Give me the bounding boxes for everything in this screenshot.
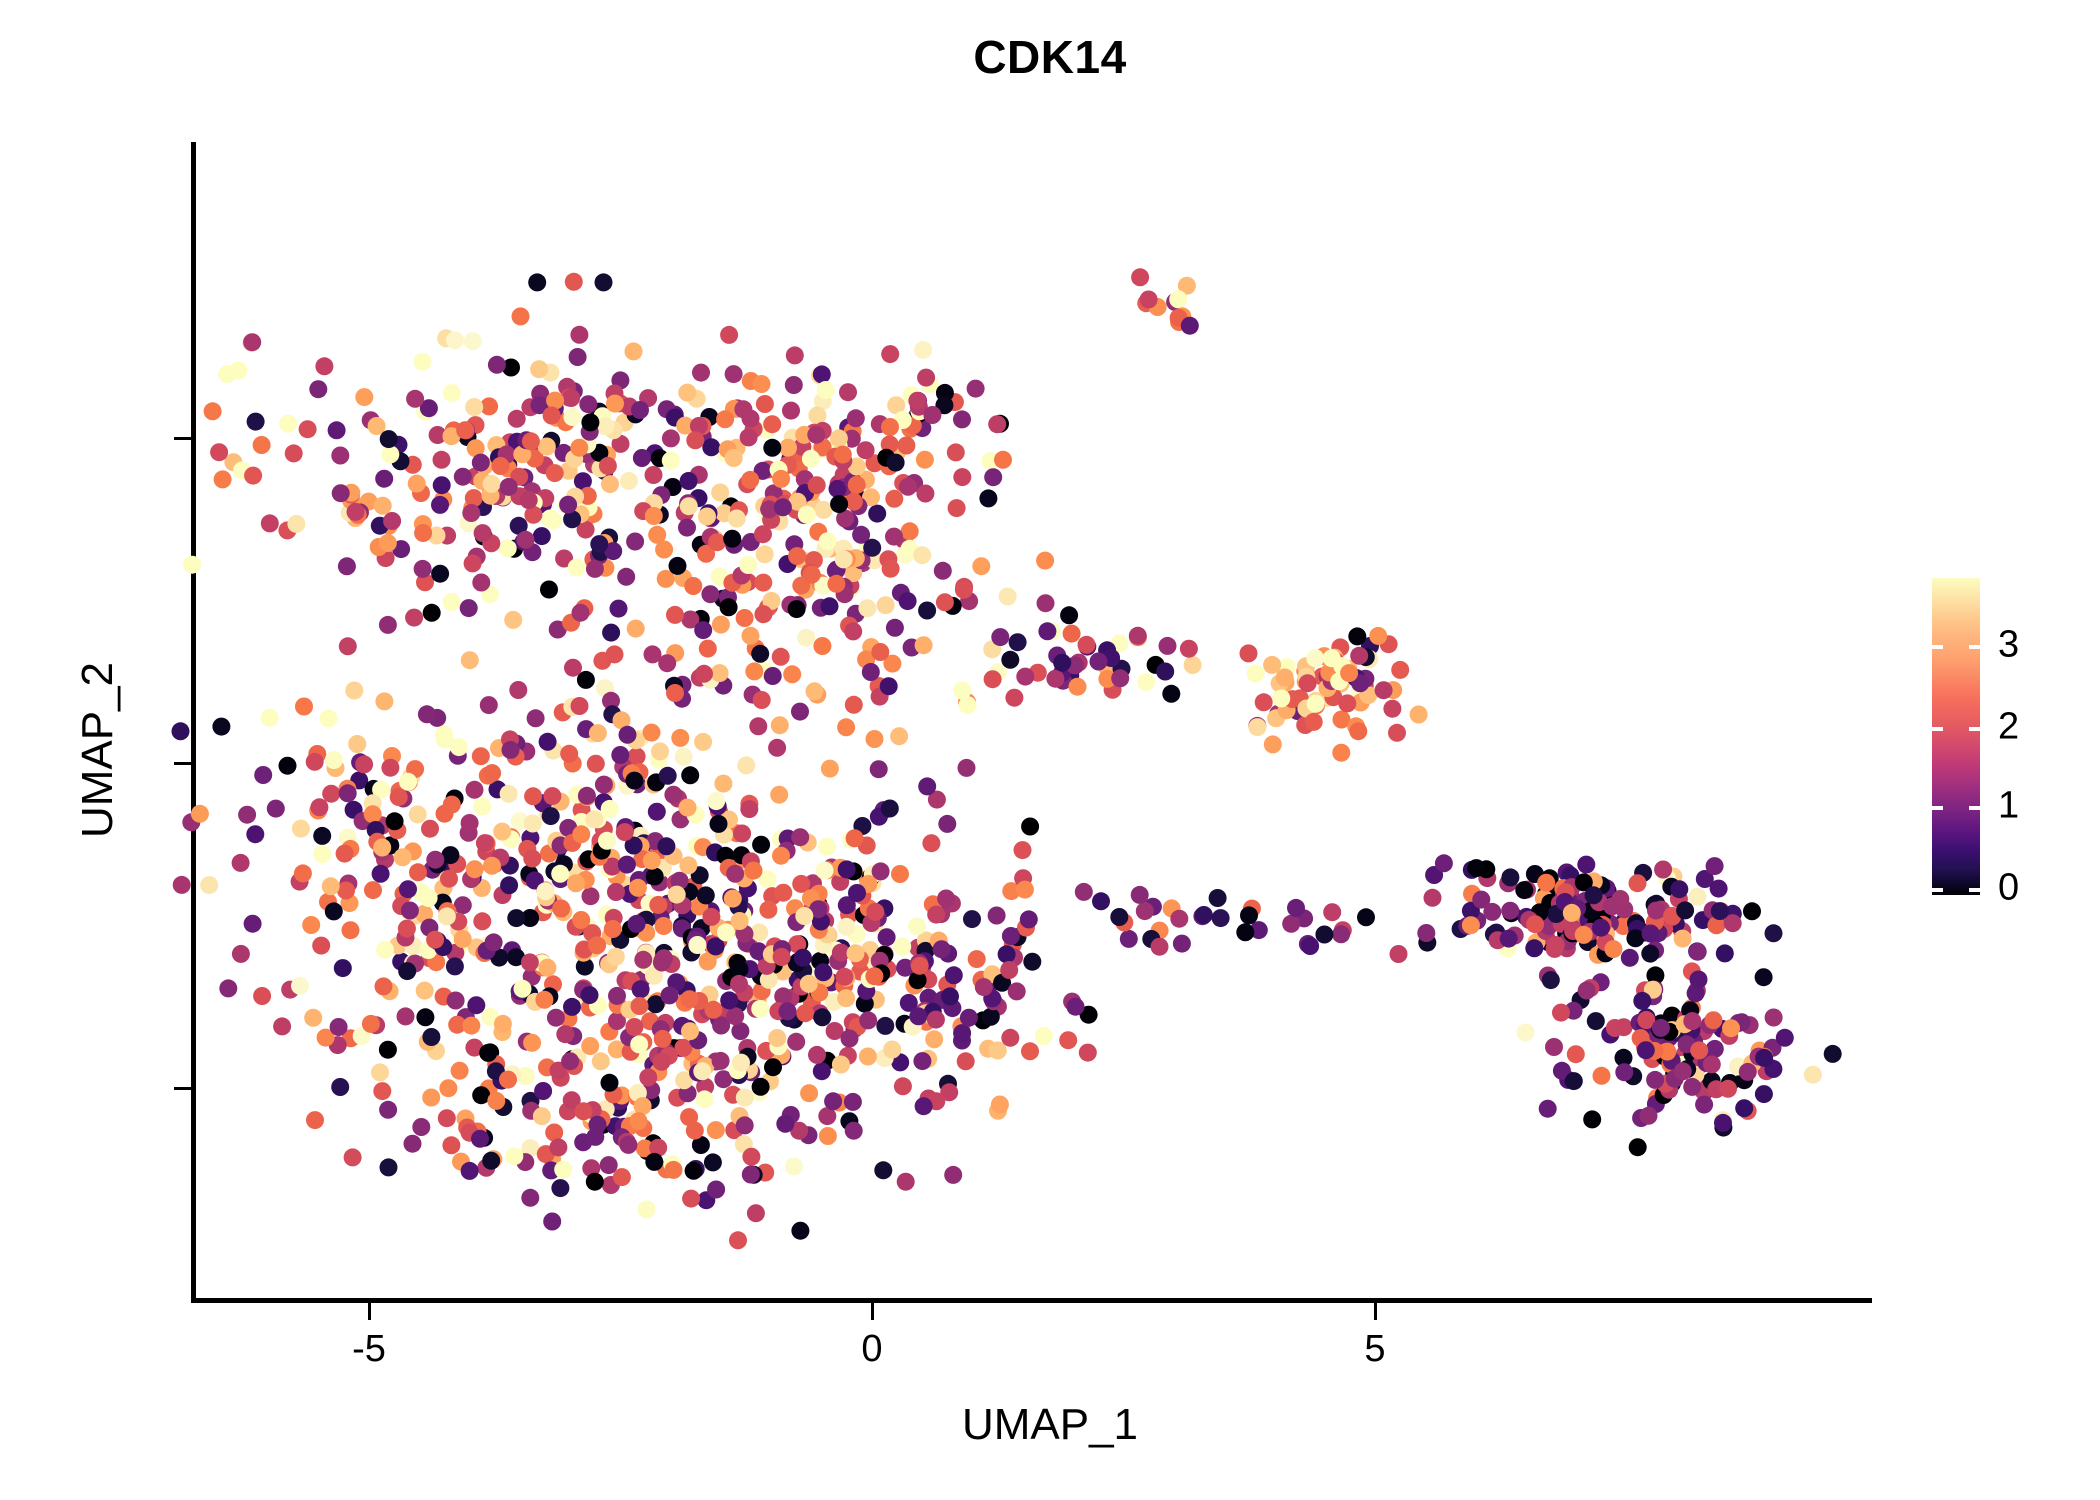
scatter-point bbox=[372, 865, 390, 883]
scatter-point bbox=[696, 1090, 714, 1108]
scatter-point bbox=[312, 937, 330, 955]
scatter-point bbox=[538, 959, 556, 977]
scatter-point bbox=[456, 421, 474, 439]
scatter-point bbox=[483, 857, 501, 875]
scatter-point bbox=[866, 730, 884, 748]
scatter-point bbox=[737, 756, 755, 774]
scatter-point bbox=[1804, 1066, 1822, 1084]
scatter-point bbox=[572, 604, 590, 622]
scatter-point bbox=[422, 1089, 440, 1107]
scatter-point bbox=[1332, 744, 1350, 762]
scatter-point bbox=[991, 1096, 1009, 1114]
scatter-point bbox=[1424, 889, 1442, 907]
scatter-point bbox=[881, 345, 899, 363]
scatter-point bbox=[1323, 903, 1341, 921]
scatter-point bbox=[881, 418, 899, 436]
scatter-point bbox=[1111, 669, 1129, 687]
scatter-point bbox=[625, 1018, 643, 1036]
scatter-point bbox=[844, 1093, 862, 1111]
scatter-point bbox=[933, 940, 951, 958]
scatter-point bbox=[752, 1078, 770, 1096]
scatter-point bbox=[1410, 706, 1428, 724]
scatter-point bbox=[325, 902, 343, 920]
scatter-point bbox=[355, 755, 373, 773]
scatter-point bbox=[1542, 971, 1560, 989]
colorbar-tick-mark bbox=[1969, 888, 1980, 892]
scatter-point bbox=[570, 326, 588, 344]
scatter-point bbox=[466, 860, 484, 878]
scatter-point bbox=[1722, 1019, 1740, 1037]
scatter-point bbox=[802, 450, 820, 468]
scatter-point bbox=[630, 1035, 648, 1053]
scatter-point bbox=[306, 1111, 324, 1129]
scatter-point bbox=[685, 1162, 703, 1180]
scatter-point bbox=[1585, 886, 1603, 904]
scatter-point bbox=[1683, 1078, 1701, 1096]
scatter-point bbox=[254, 766, 272, 784]
scatter-point bbox=[390, 788, 408, 806]
scatter-point bbox=[1255, 693, 1273, 711]
scatter-point bbox=[561, 1052, 579, 1070]
scatter-point bbox=[779, 1002, 797, 1020]
scatter-point bbox=[785, 376, 803, 394]
scatter-point bbox=[1690, 1041, 1708, 1059]
scatter-point bbox=[1247, 665, 1265, 683]
scatter-point bbox=[865, 967, 883, 985]
scatter-point bbox=[1240, 644, 1258, 662]
scatter-point bbox=[1156, 663, 1174, 681]
scatter-point bbox=[397, 1007, 415, 1025]
scatter-point bbox=[806, 682, 824, 700]
scatter-point bbox=[285, 444, 303, 462]
scatter-point bbox=[616, 823, 634, 841]
x-tick-label: -5 bbox=[352, 1328, 386, 1371]
scatter-point bbox=[1016, 668, 1034, 686]
scatter-point bbox=[813, 637, 831, 655]
scatter-point bbox=[454, 896, 472, 914]
colorbar-tick-mark bbox=[1932, 888, 1943, 892]
scatter-point bbox=[1009, 633, 1027, 651]
scatter-point bbox=[488, 356, 506, 374]
scatter-point bbox=[1282, 915, 1300, 933]
scatter-point bbox=[527, 709, 545, 727]
scatter-point bbox=[1640, 1107, 1658, 1125]
scatter-point bbox=[998, 945, 1016, 963]
scatter-point bbox=[772, 648, 790, 666]
scatter-point bbox=[1037, 594, 1055, 612]
scatter-point bbox=[1067, 998, 1085, 1016]
scatter-point bbox=[1689, 943, 1707, 961]
scatter-point bbox=[716, 410, 734, 428]
scatter-point bbox=[494, 1015, 512, 1033]
scatter-point bbox=[726, 865, 744, 883]
colorbar-tick-mark bbox=[1969, 727, 1980, 731]
x-tick-mark bbox=[871, 1303, 874, 1320]
scatter-point bbox=[742, 1166, 760, 1184]
scatter-point bbox=[1140, 291, 1158, 309]
scatter-point bbox=[819, 532, 837, 550]
scatter-point bbox=[686, 1122, 704, 1140]
scatter-point bbox=[839, 383, 857, 401]
scatter-point bbox=[704, 1001, 722, 1019]
scatter-point bbox=[443, 384, 461, 402]
scatter-point bbox=[546, 392, 564, 410]
scatter-point bbox=[923, 406, 941, 424]
scatter-point bbox=[653, 954, 671, 972]
scatter-point bbox=[824, 1092, 842, 1110]
scatter-point bbox=[1552, 1004, 1570, 1022]
scatter-point bbox=[631, 401, 649, 419]
scatter-point bbox=[467, 996, 485, 1014]
scatter-point bbox=[1131, 886, 1149, 904]
scatter-point bbox=[711, 484, 729, 502]
scatter-point bbox=[292, 820, 310, 838]
scatter-point bbox=[204, 402, 222, 420]
scatter-point bbox=[172, 722, 190, 740]
scatter-point bbox=[740, 800, 758, 818]
scatter-point bbox=[736, 1116, 754, 1134]
scatter-point bbox=[669, 557, 687, 575]
scatter-point bbox=[273, 1017, 291, 1035]
scatter-point bbox=[1526, 915, 1544, 933]
scatter-point bbox=[483, 475, 501, 493]
scatter-point bbox=[514, 980, 532, 998]
scatter-point bbox=[693, 1062, 711, 1080]
colorbar-gradient bbox=[1932, 578, 1980, 895]
scatter-point bbox=[1236, 923, 1254, 941]
scatter-point bbox=[232, 945, 250, 963]
scatter-point bbox=[1637, 1041, 1655, 1059]
scatter-point bbox=[707, 1181, 725, 1199]
scatter-point bbox=[654, 1030, 672, 1048]
scatter-point bbox=[838, 918, 856, 936]
scatter-point bbox=[442, 1136, 460, 1154]
scatter-point bbox=[914, 341, 932, 359]
scatter-point bbox=[1525, 939, 1543, 957]
scatter-point bbox=[261, 514, 279, 532]
scatter-point bbox=[753, 691, 771, 709]
scatter-point bbox=[571, 697, 589, 715]
scatter-point bbox=[440, 870, 458, 888]
scatter-point bbox=[491, 457, 509, 475]
scatter-point bbox=[412, 1118, 430, 1136]
scatter-point bbox=[1390, 945, 1408, 963]
scatter-point bbox=[848, 476, 866, 494]
scatter-point bbox=[740, 428, 758, 446]
scatter-point bbox=[991, 628, 1009, 646]
scatter-point bbox=[720, 991, 738, 1009]
scatter-point bbox=[982, 1008, 1000, 1026]
scatter-point bbox=[643, 852, 661, 870]
scatter-point bbox=[523, 1034, 541, 1052]
scatter-point bbox=[837, 989, 855, 1007]
scatter-point bbox=[749, 717, 767, 735]
scatter-point bbox=[857, 441, 875, 459]
scatter-point bbox=[564, 659, 582, 677]
scatter-point bbox=[807, 426, 825, 444]
scatter-point bbox=[345, 682, 363, 700]
scatter-point bbox=[1059, 1031, 1077, 1049]
scatter-point bbox=[913, 546, 931, 564]
scatter-point bbox=[480, 696, 498, 714]
scatter-point bbox=[606, 645, 624, 663]
colorbar-tick-label: 2 bbox=[1998, 706, 2019, 749]
scatter-point bbox=[287, 515, 305, 533]
scatter-point bbox=[699, 640, 717, 658]
scatter-point bbox=[813, 365, 831, 383]
scatter-point bbox=[1621, 949, 1639, 967]
scatter-point bbox=[756, 545, 774, 563]
scatter-point bbox=[1711, 902, 1729, 920]
scatter-point bbox=[569, 348, 587, 366]
scatter-point bbox=[560, 745, 578, 763]
scatter-point bbox=[916, 451, 934, 469]
scatter-point bbox=[1603, 897, 1621, 915]
scatter-point bbox=[655, 917, 673, 935]
scatter-point bbox=[1023, 953, 1041, 971]
scatter-point bbox=[725, 365, 743, 383]
scatter-point bbox=[1036, 552, 1054, 570]
scatter-point bbox=[752, 836, 770, 854]
scatter-point bbox=[901, 522, 919, 540]
scatter-point bbox=[632, 980, 650, 998]
scatter-point bbox=[1652, 1019, 1670, 1037]
scatter-point bbox=[364, 805, 382, 823]
scatter-point bbox=[922, 834, 940, 852]
scatter-point bbox=[423, 604, 441, 622]
scatter-point bbox=[1240, 906, 1258, 924]
scatter-point bbox=[1016, 881, 1034, 899]
scatter-point bbox=[918, 602, 936, 620]
scatter-point bbox=[786, 346, 804, 364]
scatter-point bbox=[426, 931, 444, 949]
scatter-point bbox=[736, 1089, 754, 1107]
scatter-point bbox=[1824, 1045, 1842, 1063]
scatter-point bbox=[859, 1048, 877, 1066]
scatter-point bbox=[787, 1033, 805, 1051]
scatter-point bbox=[375, 470, 393, 488]
scatter-point bbox=[808, 1046, 826, 1064]
scatter-point bbox=[680, 990, 698, 1008]
scatter-point bbox=[813, 1062, 831, 1080]
scatter-point bbox=[659, 767, 677, 785]
scatter-point bbox=[380, 430, 398, 448]
scatter-point bbox=[421, 820, 439, 838]
scatter-point bbox=[1170, 910, 1188, 928]
scatter-point bbox=[711, 664, 729, 682]
scatter-point bbox=[405, 609, 423, 627]
scatter-point bbox=[629, 879, 647, 897]
scatter-point bbox=[834, 446, 852, 464]
scatter-point bbox=[431, 496, 449, 514]
scatter-point bbox=[332, 484, 350, 502]
scatter-point bbox=[383, 512, 401, 530]
scatter-point bbox=[720, 598, 738, 616]
scatter-point bbox=[604, 920, 622, 938]
scatter-point bbox=[505, 1147, 523, 1165]
scatter-point bbox=[500, 478, 518, 496]
scatter-point bbox=[338, 557, 356, 575]
scatter-point bbox=[625, 772, 643, 790]
scatter-point bbox=[1110, 908, 1128, 926]
scatter-point bbox=[521, 953, 539, 971]
scatter-point bbox=[732, 1054, 750, 1072]
scatter-point bbox=[585, 810, 603, 828]
scatter-point bbox=[464, 554, 482, 572]
scatter-point bbox=[336, 845, 354, 863]
scatter-point bbox=[1046, 670, 1064, 688]
scatter-point bbox=[542, 807, 560, 825]
scatter-point bbox=[1079, 1044, 1097, 1062]
scatter-point bbox=[485, 933, 503, 951]
scatter-point bbox=[668, 886, 686, 904]
scatter-point bbox=[304, 1009, 322, 1027]
scatter-point bbox=[582, 887, 600, 905]
scatter-point bbox=[1272, 689, 1290, 707]
scatter-point bbox=[837, 718, 855, 736]
scatter-point bbox=[554, 1161, 572, 1179]
scatter-point bbox=[1357, 908, 1375, 926]
scatter-point bbox=[871, 643, 889, 661]
scatter-point bbox=[320, 709, 338, 727]
scatter-point bbox=[710, 815, 728, 833]
scatter-point bbox=[967, 380, 985, 398]
scatter-point bbox=[565, 273, 583, 291]
scatter-point bbox=[999, 588, 1017, 606]
scatter-point bbox=[984, 670, 1002, 688]
scatter-point bbox=[887, 454, 905, 472]
scatter-point bbox=[517, 531, 535, 549]
scatter-point bbox=[1539, 1100, 1557, 1118]
scatter-point bbox=[1500, 930, 1518, 948]
scatter-point bbox=[870, 760, 888, 778]
scatter-point bbox=[1369, 627, 1387, 645]
scatter-point bbox=[678, 384, 696, 402]
scatter-point bbox=[568, 559, 586, 577]
scatter-point bbox=[808, 476, 826, 494]
scatter-point bbox=[662, 429, 680, 447]
scatter-point bbox=[783, 665, 801, 683]
scatter-point bbox=[618, 856, 636, 874]
scatter-point bbox=[567, 874, 585, 892]
scatter-point bbox=[512, 307, 530, 325]
scatter-point bbox=[540, 581, 558, 599]
scatter-point bbox=[313, 845, 331, 863]
scatter-point bbox=[543, 787, 561, 805]
scatter-point bbox=[536, 882, 554, 900]
scatter-point bbox=[601, 475, 619, 493]
scatter-point bbox=[617, 568, 635, 586]
scatter-point bbox=[684, 577, 702, 595]
colorbar-tick-mark bbox=[1969, 806, 1980, 810]
scatter-point bbox=[499, 1071, 517, 1089]
scatter-point bbox=[1169, 290, 1187, 308]
scatter-point bbox=[661, 986, 679, 1004]
scatter-point bbox=[590, 535, 608, 553]
scatter-point bbox=[355, 388, 373, 406]
scatter-point bbox=[620, 472, 638, 490]
scatter-point bbox=[499, 539, 517, 557]
scatter-point bbox=[586, 560, 604, 578]
scatter-point bbox=[1053, 654, 1071, 672]
scatter-point bbox=[741, 471, 759, 489]
scatter-point bbox=[633, 449, 651, 467]
scatter-point bbox=[1306, 649, 1324, 667]
scatter-point bbox=[1212, 909, 1230, 927]
scatter-point bbox=[375, 692, 393, 710]
scatter-point bbox=[438, 907, 456, 925]
scatter-point bbox=[533, 1107, 551, 1125]
scatter-point bbox=[1287, 899, 1305, 917]
scatter-point bbox=[535, 991, 553, 1009]
scatter-point bbox=[915, 1097, 933, 1115]
scatter-point bbox=[1592, 919, 1610, 937]
scatter-point bbox=[214, 470, 232, 488]
scatter-point bbox=[968, 950, 986, 968]
scatter-point bbox=[331, 1078, 349, 1096]
scatter-point bbox=[1195, 906, 1213, 924]
scatter-point bbox=[1035, 1027, 1053, 1045]
scatter-point bbox=[927, 1011, 945, 1029]
y-axis-label: UMAP_2 bbox=[73, 662, 123, 838]
scatter-point bbox=[601, 800, 619, 818]
scatter-point bbox=[520, 491, 538, 509]
scatter-point bbox=[1264, 735, 1282, 753]
scatter-point bbox=[908, 392, 926, 410]
scatter-point bbox=[1383, 700, 1401, 718]
scatter-point bbox=[848, 884, 866, 902]
scatter-point bbox=[541, 510, 559, 528]
scatter-point bbox=[1136, 902, 1154, 920]
scatter-point bbox=[1338, 694, 1356, 712]
scatter-point bbox=[446, 957, 464, 975]
scatter-point bbox=[244, 467, 262, 485]
scatter-point bbox=[291, 977, 309, 995]
scatter-point bbox=[883, 1041, 901, 1059]
scatter-point bbox=[446, 331, 464, 349]
scatter-point bbox=[631, 997, 649, 1015]
scatter-point bbox=[821, 597, 839, 615]
scatter-point bbox=[847, 409, 865, 427]
scatter-point bbox=[816, 862, 834, 880]
scatter-point bbox=[797, 629, 815, 647]
scatter-point bbox=[953, 682, 971, 700]
scatter-point bbox=[595, 273, 613, 291]
scatter-point bbox=[1743, 902, 1761, 920]
scatter-point bbox=[344, 1148, 362, 1166]
scatter-point bbox=[925, 1030, 943, 1048]
plot-panel bbox=[195, 142, 1872, 1300]
scatter-point bbox=[1417, 924, 1435, 942]
scatter-point bbox=[882, 560, 900, 578]
scatter-point bbox=[435, 725, 453, 743]
scatter-point bbox=[653, 1053, 671, 1071]
scatter-point bbox=[753, 375, 771, 393]
scatter-point bbox=[1391, 661, 1409, 679]
scatter-point bbox=[701, 585, 719, 603]
colorbar-tick-mark bbox=[1932, 727, 1943, 731]
scatter-point bbox=[299, 420, 317, 438]
scatter-point bbox=[739, 556, 757, 574]
scatter-point bbox=[279, 415, 297, 433]
scatter-point bbox=[439, 1079, 457, 1097]
scatter-point bbox=[681, 766, 699, 784]
scatter-point bbox=[736, 609, 754, 627]
scatter-point bbox=[589, 724, 607, 742]
scatter-point bbox=[1706, 857, 1724, 875]
scatter-point bbox=[302, 916, 320, 934]
scatter-point bbox=[331, 447, 349, 465]
